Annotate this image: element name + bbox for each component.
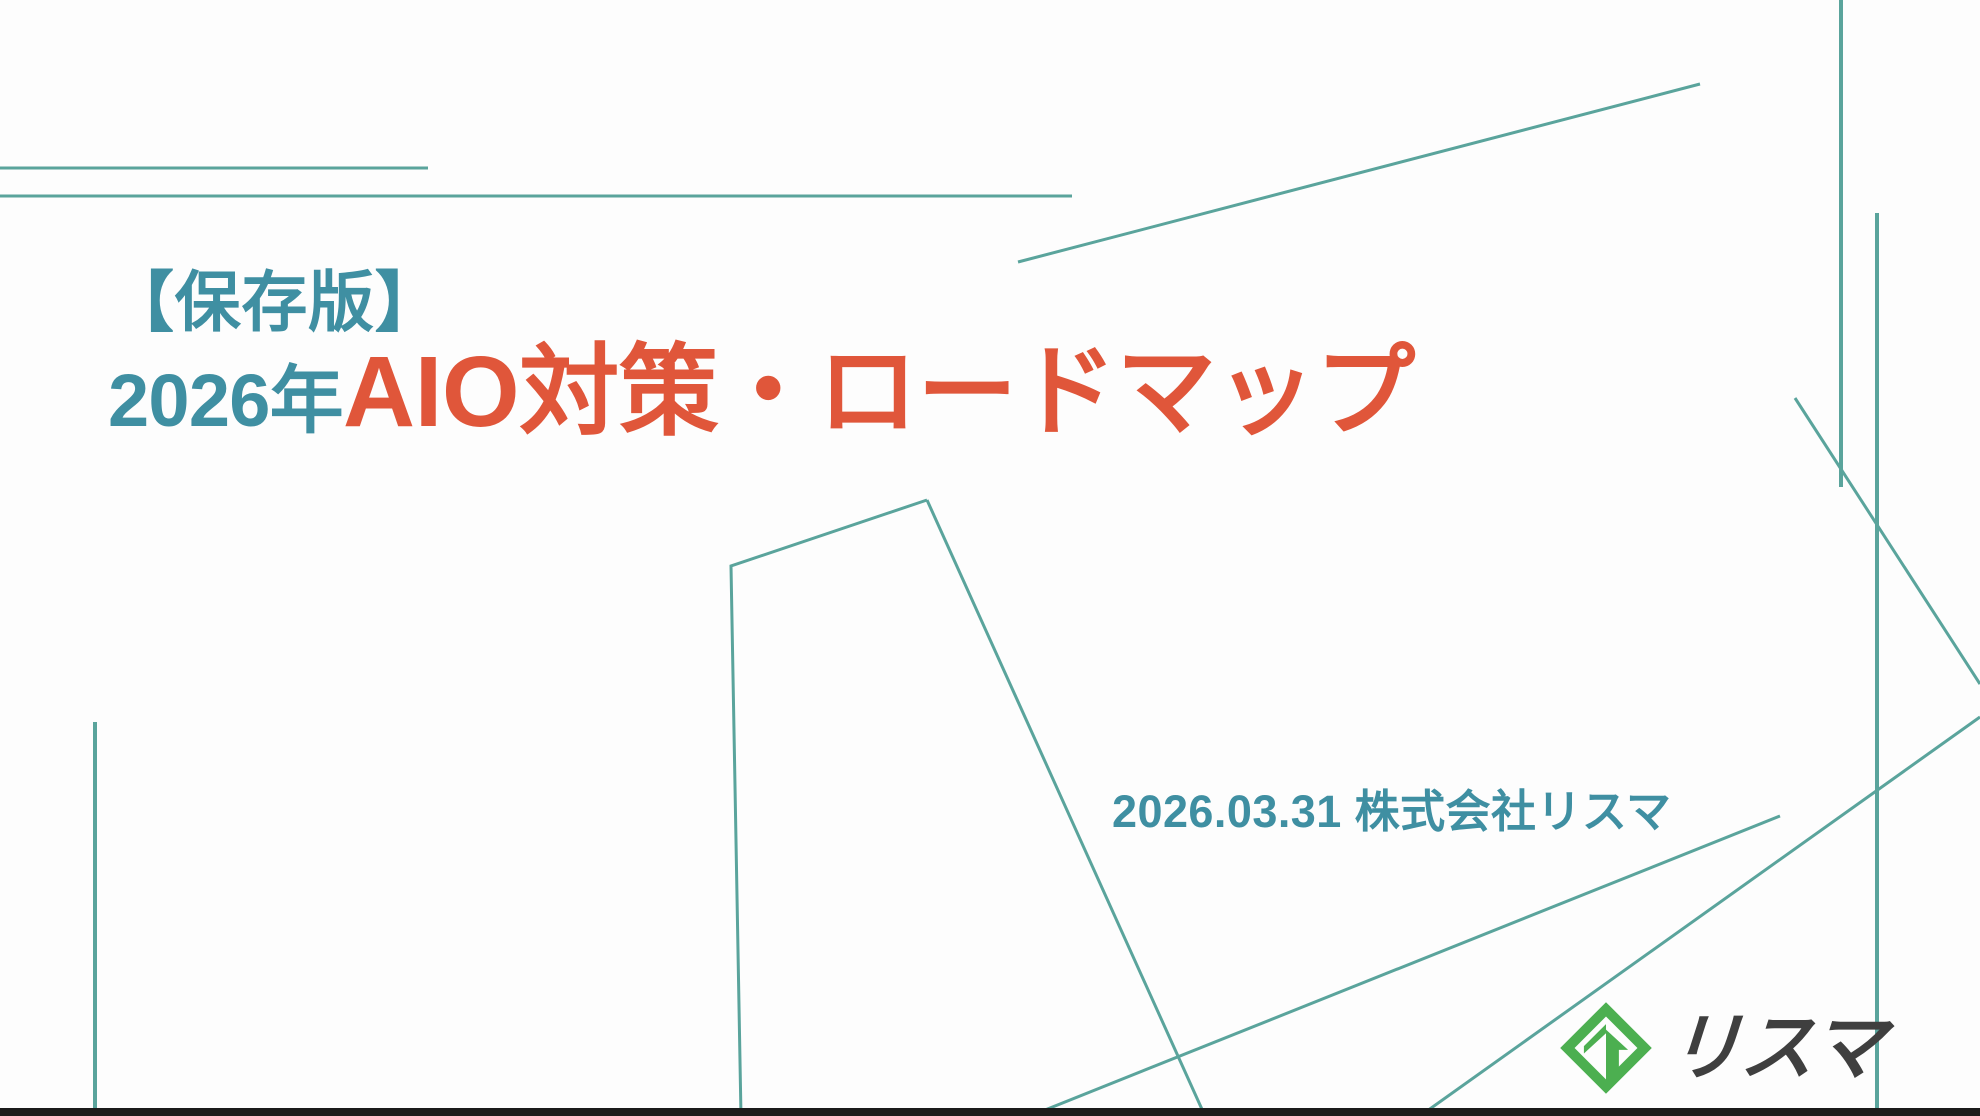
bottom-edge-bar [0,1108,1980,1116]
slide-byline: 2026.03.31 株式会社リスマ [1112,775,1671,840]
upper-right-wedge-line [1795,398,1980,684]
slide-headline: 2026年AIO対策・ロードマップ [108,341,1588,443]
title-block: 【保存版】 2026年AIO対策・ロードマップ [108,268,1588,443]
upper-right-diagonal-line [1018,84,1700,262]
slide-kicker: 【保存版】 [108,268,1588,337]
title-slide: 【保存版】 2026年AIO対策・ロードマップ 2026.03.31 株式会社リ… [0,0,1980,1116]
risuma-diamond-arrow-icon [1560,1002,1652,1094]
headline-main: AIO対策・ロードマップ [343,336,1415,448]
logo-wordmark: リスマ [1665,1011,1886,1085]
decorative-lines-layer [0,0,1980,1116]
company-logo: リスマ [1560,1002,1883,1094]
headline-year: 2026年 [108,359,343,442]
large-tilted-polygon [731,500,927,1116]
